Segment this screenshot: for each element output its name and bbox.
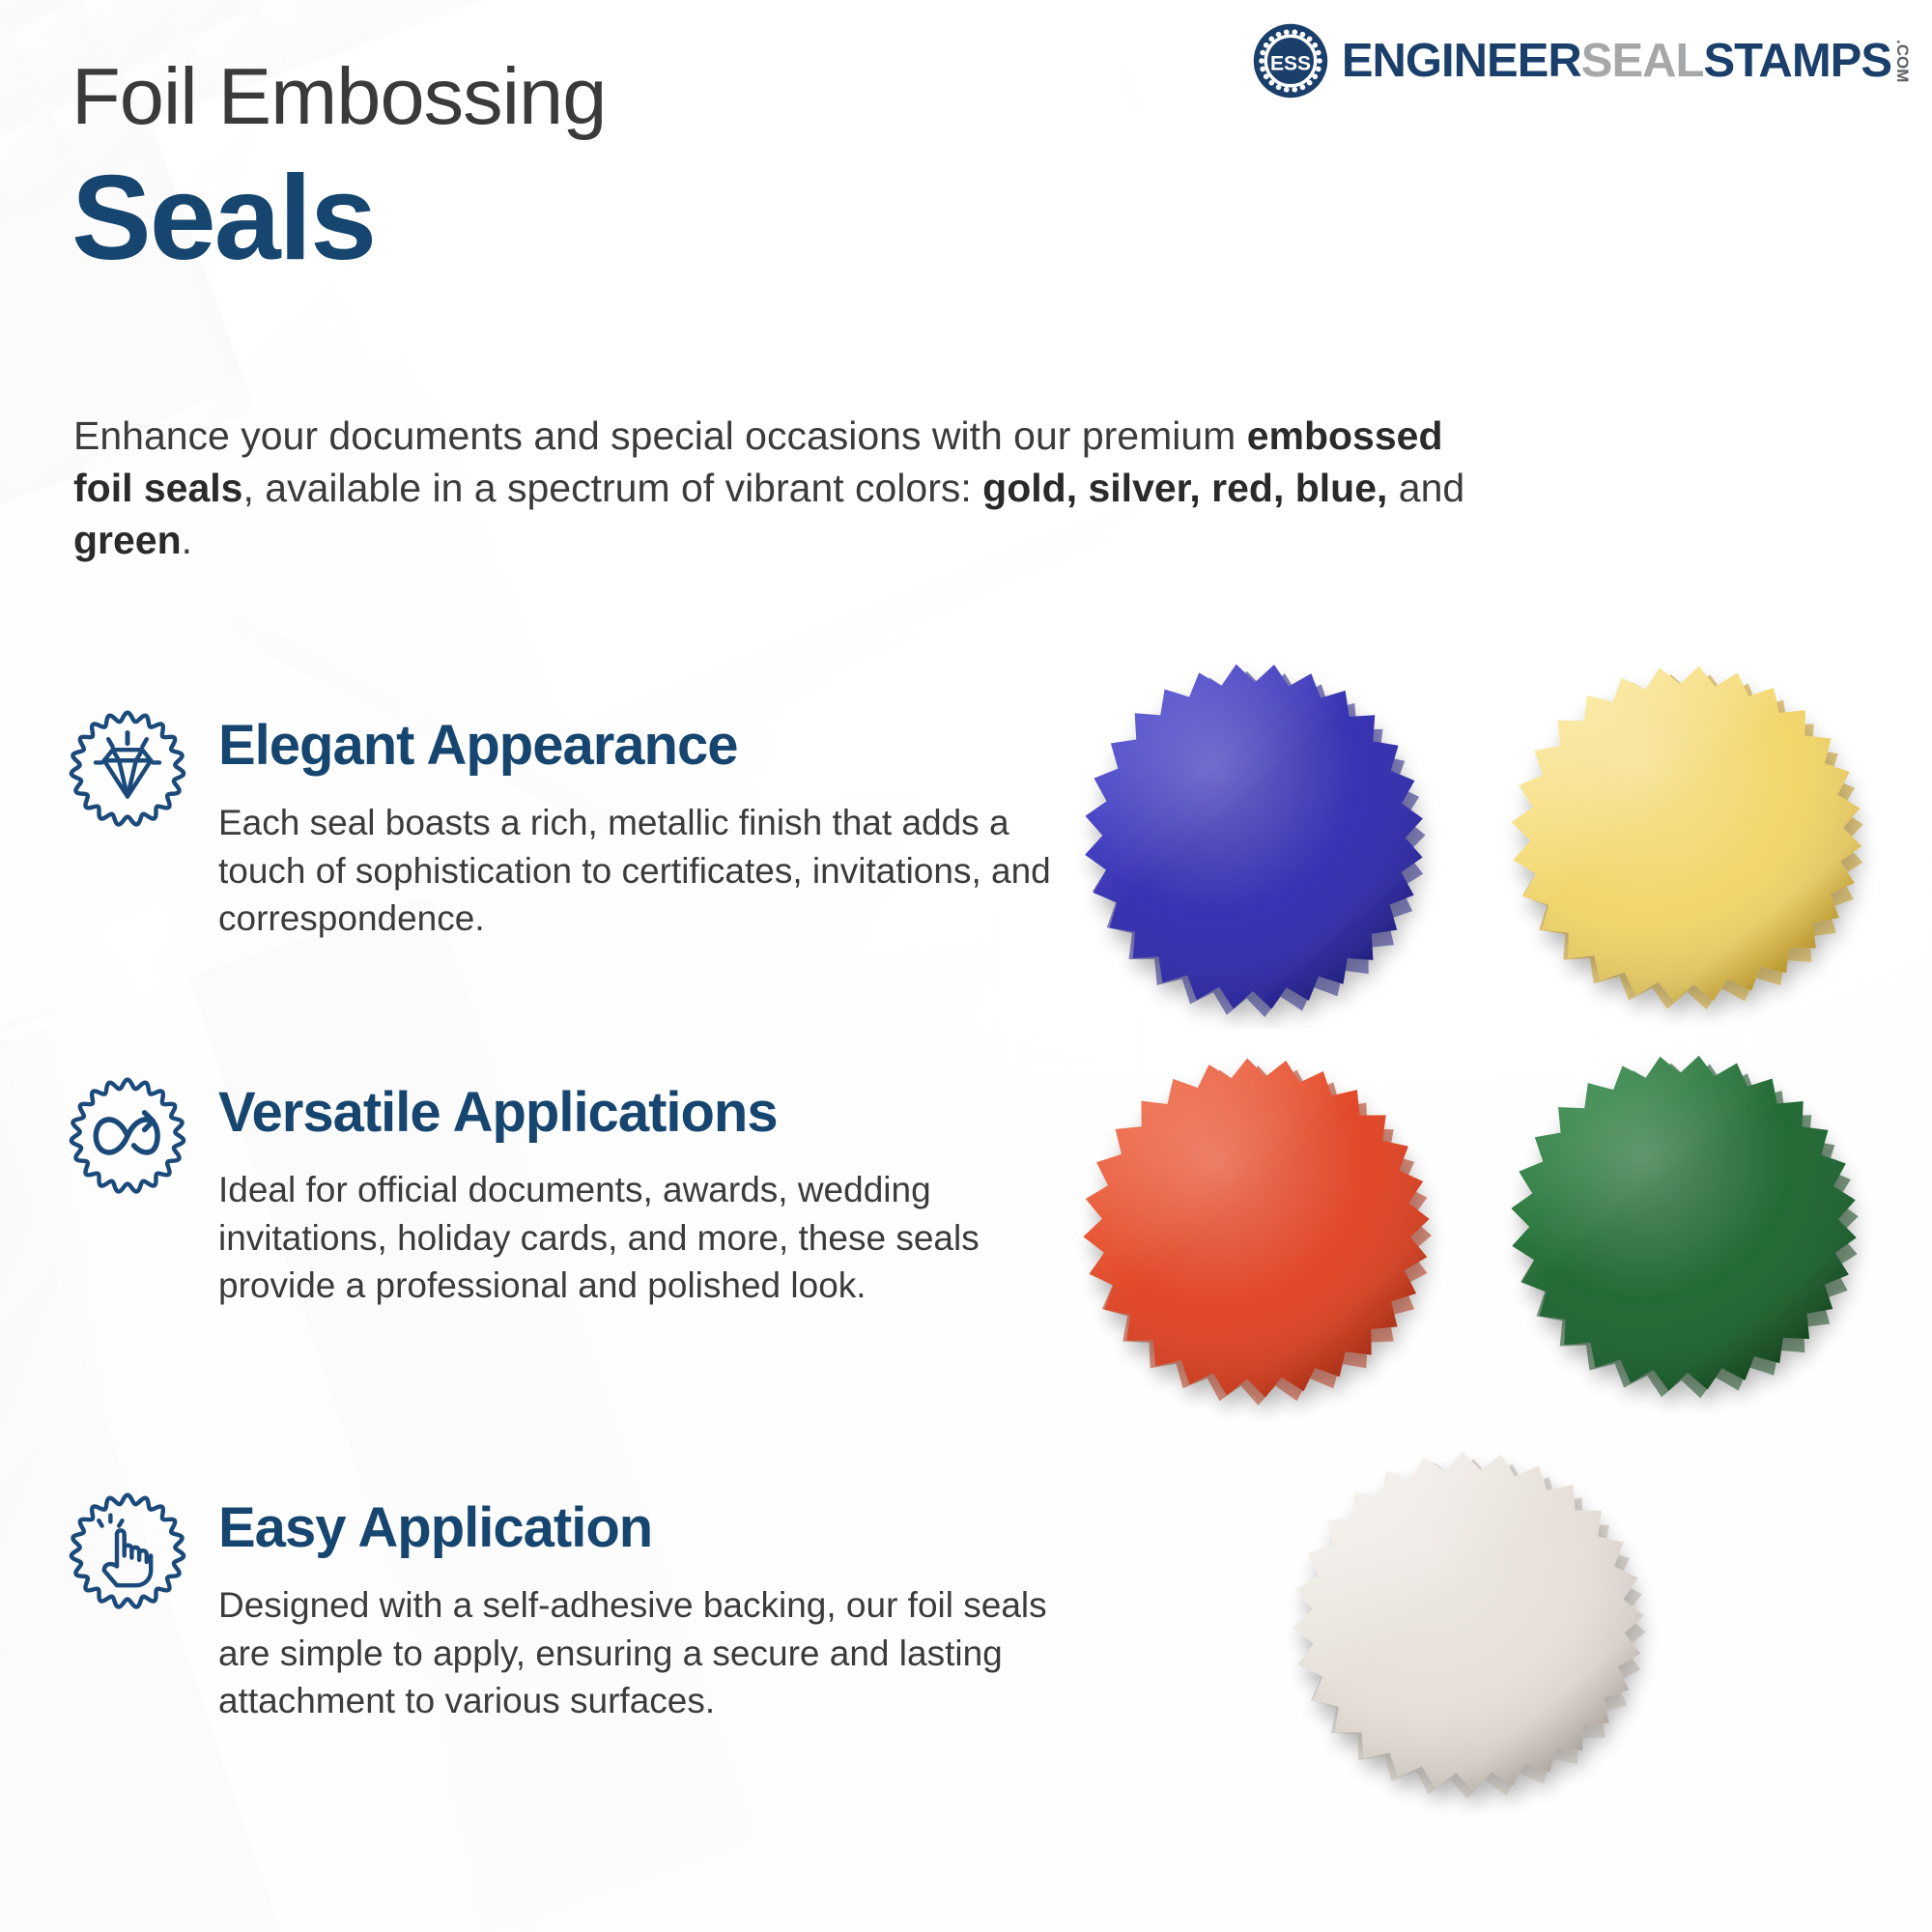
feature-1-body: Elegant Appearance Each seal boasts a ri… (218, 705, 1088, 943)
seal-gold (1495, 647, 1882, 1029)
wordmark-seal: SEAL (1581, 34, 1704, 88)
feature-3-text: Designed with a self-adhesive backing, o… (218, 1581, 1088, 1725)
feature-2-text: Ideal for official documents, awards, we… (218, 1166, 1088, 1310)
intro-text-3: and (1387, 466, 1464, 510)
seal-green (1492, 1038, 1879, 1415)
page-title: Seals (71, 150, 375, 287)
gold-foil-seal-icon (1495, 647, 1882, 1029)
feature-1-title: Elegant Appearance (218, 717, 1088, 774)
intro-text-2: , available in a spectrum of vibrant col… (242, 466, 982, 510)
feature-elegant-appearance: Elegant Appearance Each seal boasts a ri… (64, 705, 1088, 943)
seal-blue (1067, 652, 1444, 1029)
content-layer: ESS ENGINEER SEAL STAMPS .COM Foil Embos… (0, 0, 1932, 1932)
wordmark-stamps: STAMPS (1703, 34, 1891, 88)
diamond-gem-icon (64, 705, 191, 833)
intro-text-4: . (182, 518, 192, 562)
feature-versatile-applications: Versatile Applications Ideal for officia… (64, 1072, 1088, 1310)
ess-badge-text: ESS (1270, 52, 1311, 74)
feature-3-body: Easy Application Designed with a self-ad… (218, 1488, 1088, 1725)
blue-foil-seal-icon (1067, 652, 1444, 1029)
infographic-page: ЙЦУКЕНГШЩЗХЪФЫВАПРОЛДЖЭЯЧСМИТЬБЮЁЖЗХРОЛД… (0, 0, 1932, 1932)
wordmark-tld: .COM (1894, 40, 1911, 82)
brand-logo[interactable]: ESS ENGINEER SEAL STAMPS .COM (1253, 23, 1911, 99)
page-kicker: Foil Embossing (71, 50, 606, 143)
tapping-hand-icon (64, 1488, 191, 1615)
feature-1-text: Each seal boasts a rich, metallic finish… (218, 799, 1088, 943)
seal-red (1067, 1043, 1449, 1420)
feature-easy-application: Easy Application Designed with a self-ad… (64, 1488, 1088, 1725)
intro-bold-colors: gold, silver, red, blue, (982, 466, 1387, 510)
silver-foil-seal-icon (1277, 1435, 1663, 1816)
feature-2-title: Versatile Applications (218, 1084, 1088, 1141)
red-foil-seal-icon (1067, 1043, 1449, 1420)
feature-3-title: Easy Application (218, 1499, 1088, 1556)
feature-2-body: Versatile Applications Ideal for officia… (218, 1072, 1088, 1310)
seal-silver (1277, 1435, 1663, 1816)
ess-gear-badge-icon: ESS (1253, 23, 1328, 99)
infinity-loop-icon (64, 1072, 191, 1200)
wordmark-engineer: ENGINEER (1342, 34, 1581, 88)
intro-text-1: Enhance your documents and special occas… (73, 413, 1247, 458)
intro-paragraph: Enhance your documents and special occas… (73, 410, 1503, 566)
green-foil-seal-icon (1492, 1038, 1879, 1415)
intro-bold-green: green (73, 518, 182, 562)
brand-wordmark: ENGINEER SEAL STAMPS .COM (1342, 34, 1911, 88)
